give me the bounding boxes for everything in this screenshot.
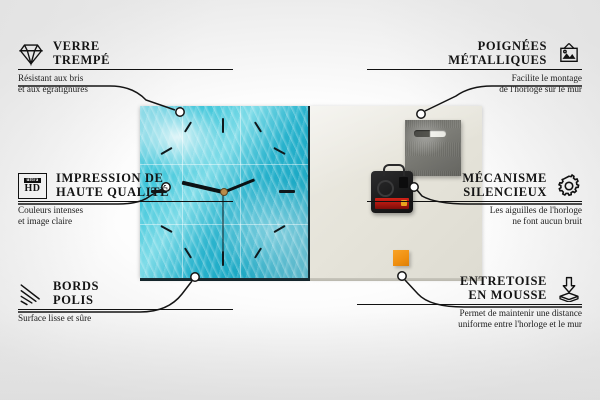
callout-entretoise-en-mousse: ENTRETOISE EN MOUSSE Permet de maintenir… — [357, 275, 582, 330]
ultra-hd-icon: ultra HD — [18, 173, 47, 199]
callout-description: Permet de maintenir une distance uniform… — [357, 308, 582, 330]
callout-title: IMPRESSION DE HAUTE QUALITÉ — [56, 172, 169, 199]
callout-title: POIGNÉES MÉTALLIQUES — [448, 40, 547, 67]
callout-divider — [18, 309, 233, 310]
foam-spacer-part — [393, 250, 409, 266]
callout-header: ultra HD IMPRESSION DE HAUTE QUALITÉ — [18, 172, 233, 199]
infographic-canvas: VERRE TREMPÉ Résistant aux bris et aux é… — [0, 0, 600, 400]
hour-marker — [279, 190, 295, 193]
callout-description: Facilite le montage de l'horloge sur le … — [367, 73, 582, 95]
callout-divider — [367, 69, 582, 70]
callout-verre-trempe: VERRE TREMPÉ Résistant aux bris et aux é… — [18, 40, 233, 95]
diamond-icon — [18, 41, 44, 67]
callout-divider — [367, 201, 582, 202]
ultra-hd-icon-main-label: HD — [25, 184, 41, 194]
callout-description: Surface lisse et sûre — [18, 313, 233, 324]
hanger-slot — [414, 130, 446, 137]
ultra-hd-icon-top-label: ultra — [24, 178, 40, 183]
callout-divider — [18, 69, 233, 70]
callout-divider — [18, 201, 233, 202]
gear-icon — [556, 173, 582, 199]
callout-header: ENTRETOISE EN MOUSSE — [357, 275, 582, 302]
callout-divider — [357, 304, 582, 305]
callout-description: Les aiguilles de l'horloge ne font aucun… — [367, 205, 582, 227]
metal-hanger-plate — [405, 120, 461, 176]
callout-title: VERRE TREMPÉ — [53, 40, 110, 67]
callout-title: MÉCANISME SILENCIEUX — [462, 172, 547, 199]
callout-description: Couleurs intenses et image claire — [18, 205, 233, 227]
callout-description: Résistant aux bris et aux égratignures — [18, 73, 233, 95]
callout-header: BORDS POLIS — [18, 280, 233, 307]
callout-title: BORDS POLIS — [53, 280, 99, 307]
foam-spacer-icon — [556, 276, 582, 302]
panel-seam-2 — [240, 106, 241, 278]
callout-bords-polis: BORDS POLIS Surface lisse et sûre — [18, 280, 233, 324]
callout-header: POIGNÉES MÉTALLIQUES — [367, 40, 582, 67]
panel-seam-3 — [140, 164, 308, 165]
callout-header: VERRE TREMPÉ — [18, 40, 233, 67]
callout-mecanisme-silencieux: MÉCANISME SILENCIEUX Les aiguilles de l'… — [367, 172, 582, 227]
callout-poignees-metalliques: POIGNÉES MÉTALLIQUES Facilite le montage… — [367, 40, 582, 95]
hour-marker — [222, 118, 224, 133]
callout-header: MÉCANISME SILENCIEUX — [367, 172, 582, 199]
callout-impression-haute-qualite: ultra HD IMPRESSION DE HAUTE QUALITÉ Cou… — [18, 172, 233, 227]
polished-edges-icon — [18, 281, 44, 307]
callout-title: ENTRETOISE EN MOUSSE — [460, 275, 547, 302]
framed-picture-icon — [556, 41, 582, 67]
